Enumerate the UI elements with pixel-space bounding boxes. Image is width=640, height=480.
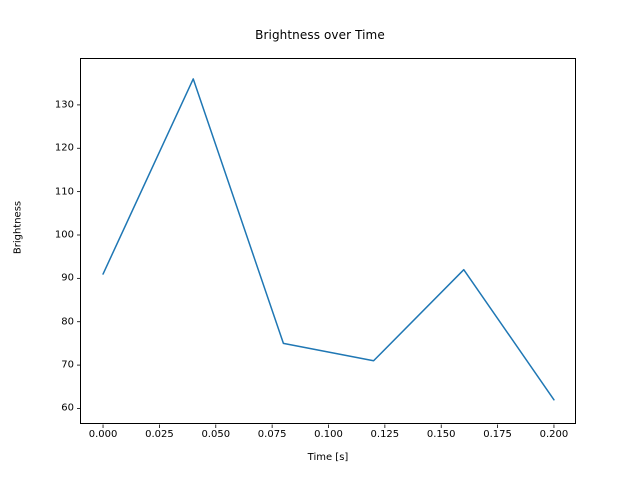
- y-tick-label: 80: [14, 316, 74, 327]
- chart-figure: Brightness over Time 6070809010011012013…: [0, 0, 640, 480]
- x-axis-label: Time [s]: [80, 452, 576, 463]
- chart-title: Brightness over Time: [0, 28, 640, 42]
- y-tick-label: 70: [14, 360, 74, 371]
- x-axis-tick-labels: 0.0000.0250.0500.0750.1000.1250.1500.175…: [0, 429, 640, 445]
- plot-axes-frame: [80, 58, 576, 424]
- y-tick-label: 130: [14, 99, 74, 110]
- y-tick-label: 60: [14, 403, 74, 414]
- y-axis-label: Brightness: [13, 148, 24, 308]
- x-tick-label: 0.200: [519, 429, 589, 440]
- x-axis-ticks: [103, 425, 554, 429]
